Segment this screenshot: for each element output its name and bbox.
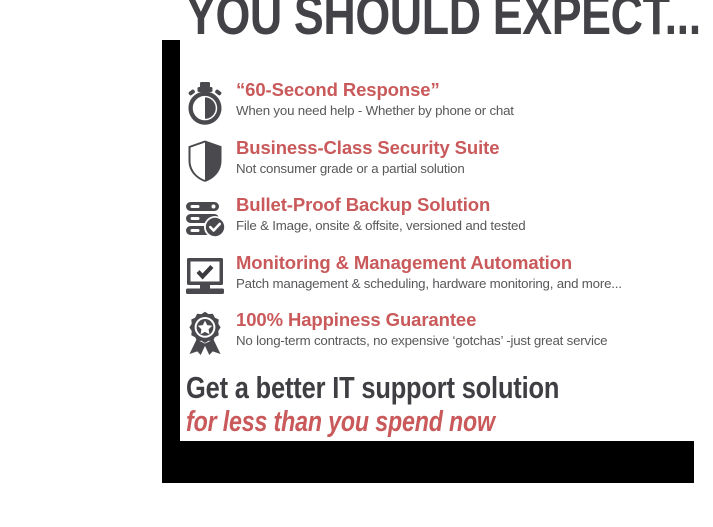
list-item: Bullet-Proof Backup Solution File & Imag… <box>183 193 713 251</box>
closing-line-secondary: for less than you spend now <box>186 406 602 438</box>
shield-icon <box>183 138 227 184</box>
list-item-title: Monitoring & Management Automation <box>236 251 713 274</box>
server-check-icon <box>183 195 227 241</box>
stopwatch-icon <box>183 80 227 126</box>
list-item-subtitle: File & Image, onsite & offsite, versione… <box>236 217 713 234</box>
frame-bottom-bar <box>162 441 694 483</box>
list-item-subtitle: No long-term contracts, no expensive ‘go… <box>236 332 713 349</box>
list-item-subtitle: When you need help - Whether by phone or… <box>236 102 713 119</box>
list-item-text: Business-Class Security Suite Not consum… <box>236 136 713 177</box>
closing-statement: Get a better IT support solution for les… <box>186 371 706 438</box>
list-item: 100% Happiness Guarantee No long-term co… <box>183 308 713 366</box>
list-item-title: Business-Class Security Suite <box>236 136 713 159</box>
list-item-title: 100% Happiness Guarantee <box>236 308 713 331</box>
list-item-subtitle: Patch management & scheduling, hardware … <box>236 275 713 292</box>
closing-line-primary: Get a better IT support solution <box>186 371 612 405</box>
list-item-text: 100% Happiness Guarantee No long-term co… <box>236 308 713 349</box>
list-item: Business-Class Security Suite Not consum… <box>183 136 713 194</box>
monitor-check-icon <box>183 253 227 299</box>
list-item-text: “60-Second Response” When you need help … <box>236 78 713 119</box>
list-item-title: “60-Second Response” <box>236 78 713 101</box>
list-item: Monitoring & Management Automation Patch… <box>183 251 713 309</box>
award-ribbon-icon <box>183 310 227 356</box>
list-item-text: Monitoring & Management Automation Patch… <box>236 251 713 292</box>
list-item-title: Bullet-Proof Backup Solution <box>236 193 713 216</box>
list-item: “60-Second Response” When you need help … <box>183 78 713 136</box>
list-item-subtitle: Not consumer grade or a partial solution <box>236 160 713 177</box>
frame-left-bar <box>162 40 180 483</box>
page-title: YOU SHOULD EXPECT... <box>186 0 608 44</box>
benefit-list: “60-Second Response” When you need help … <box>183 78 713 366</box>
list-item-text: Bullet-Proof Backup Solution File & Imag… <box>236 193 713 234</box>
